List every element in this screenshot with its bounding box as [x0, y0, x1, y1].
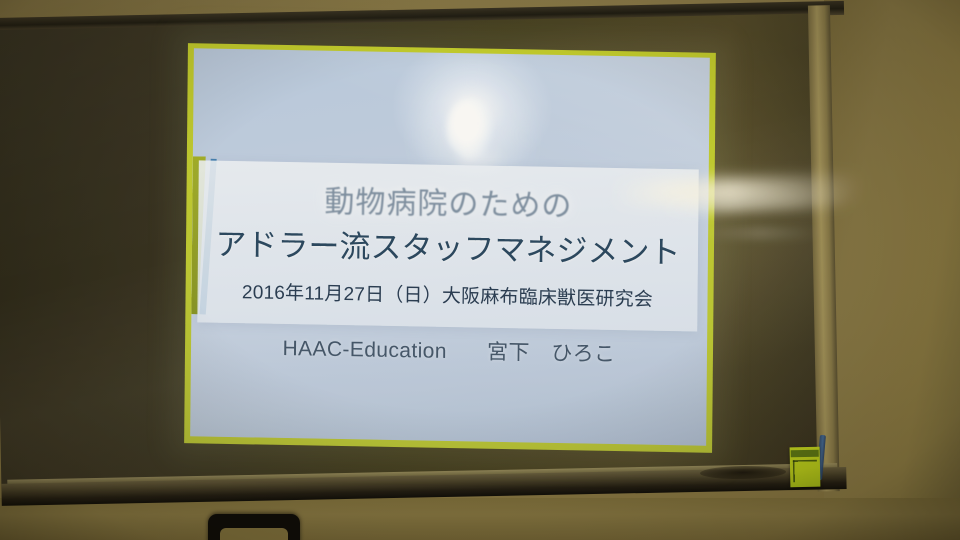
slide-title-card: 動物病院のための アドラー流スタッフマネジメント 2016年11月27日（日）大…	[197, 160, 698, 331]
slide-canvas: 動物病院のための アドラー流スタッフマネジメント 2016年11月27日（日）大…	[190, 48, 710, 445]
photo-scene: 動物病院のための アドラー流スタッフマネジメント 2016年11月27日（日）大…	[0, 0, 960, 540]
presenter-name: 宮下 ひろこ	[487, 341, 616, 366]
eraser-grip-grid	[793, 460, 817, 482]
slide-date-and-host: 2016年11月27日（日）大阪麻布臨床獣医研究会	[197, 276, 697, 312]
presenter-organization: HAAC-Education	[282, 337, 447, 363]
whiteboard-eraser-icon[interactable]	[790, 447, 821, 488]
projected-slide: 動物病院のための アドラー流スタッフマネジメント 2016年11月27日（日）大…	[184, 43, 716, 453]
eraser-label-band	[791, 450, 819, 458]
chair-back-cutout	[220, 528, 288, 540]
slide-presenter-line: HAAC-Education 宮下 ひろこ	[191, 330, 707, 369]
slide-title-line-2: アドラー流スタッフマネジメント	[198, 218, 698, 272]
